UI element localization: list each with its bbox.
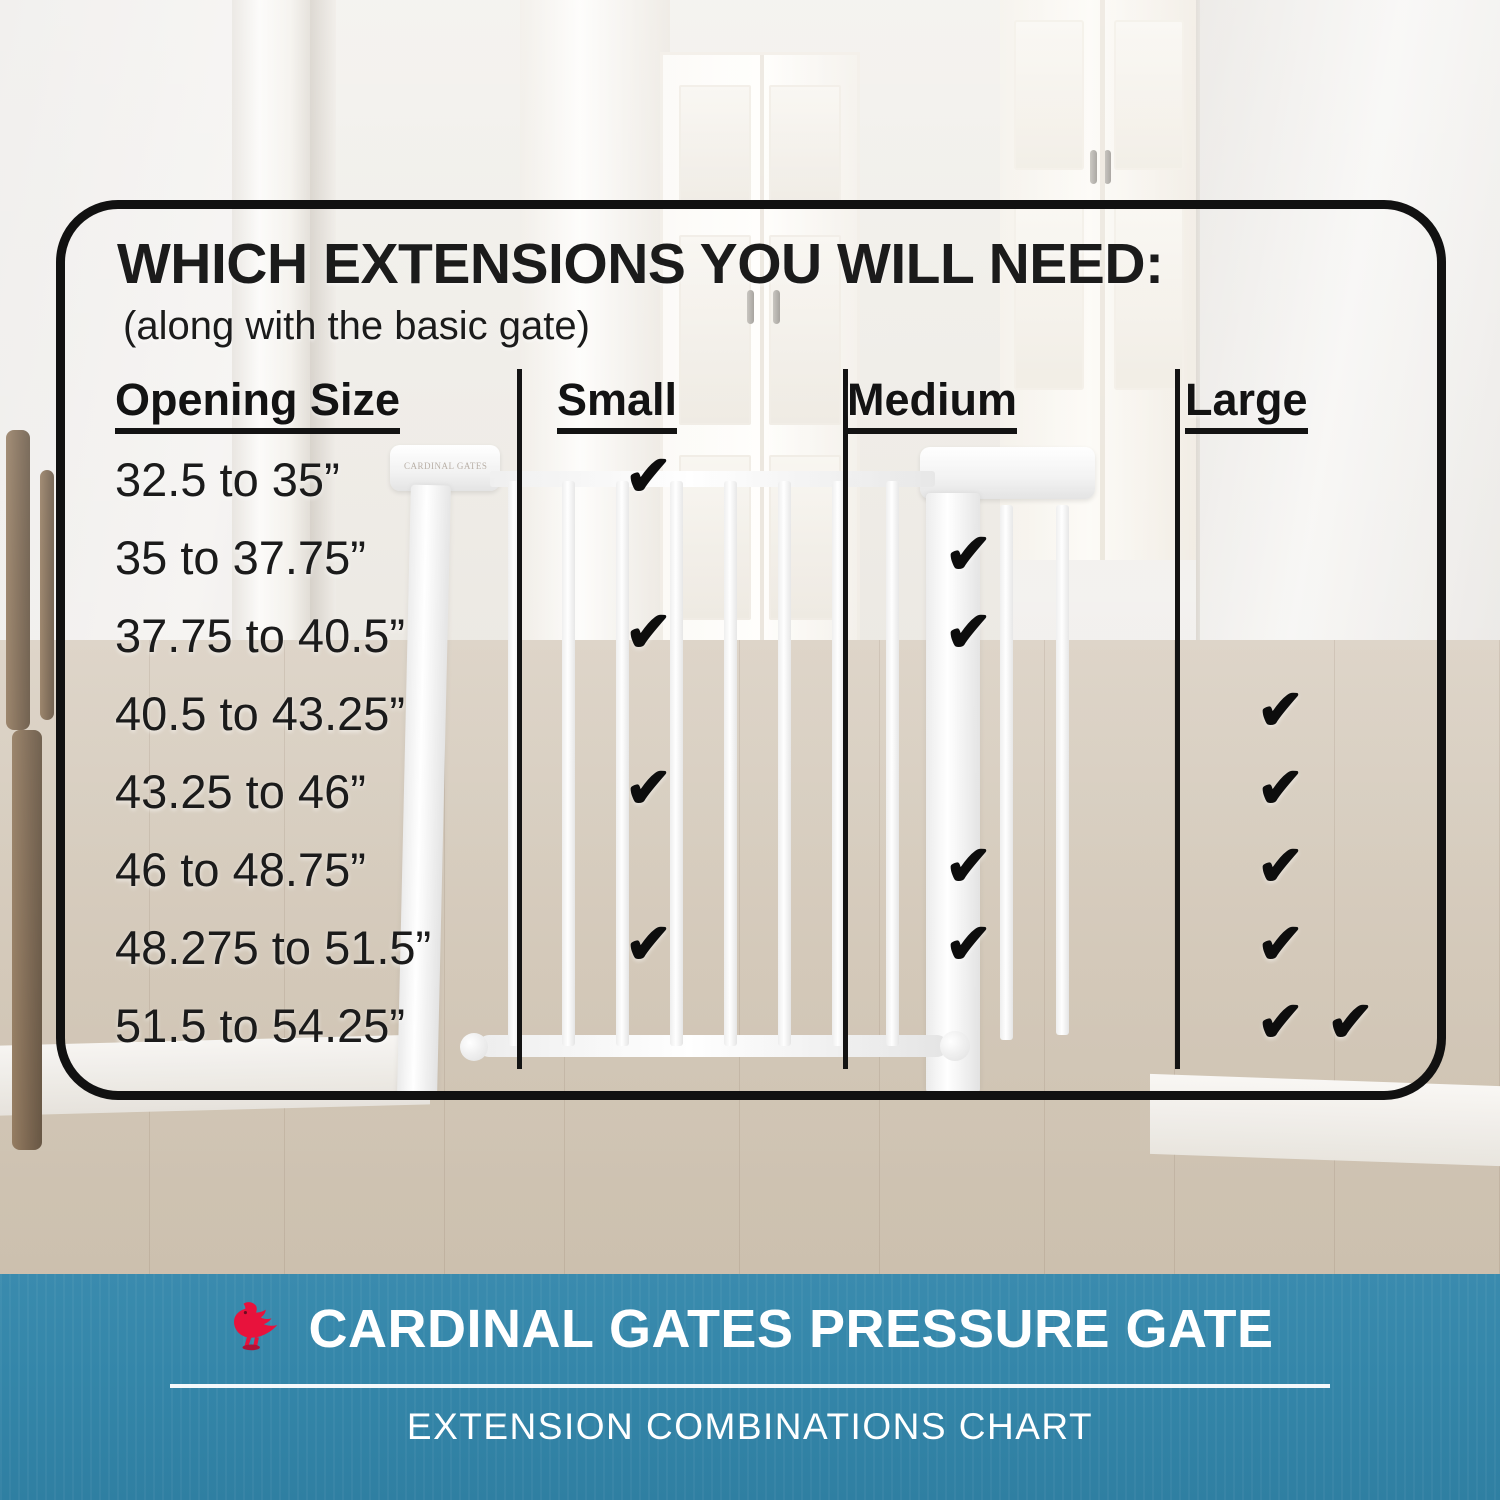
table-row: 48.275 to 51.5”✔✔✔ bbox=[65, 920, 1437, 998]
checkmark-medium-icon: ✔ bbox=[945, 916, 992, 972]
opening-size-value: 32.5 to 35” bbox=[115, 452, 340, 507]
opening-size-value: 37.75 to 40.5” bbox=[115, 608, 405, 663]
table-row: 35 to 37.75”✔ bbox=[65, 530, 1437, 608]
column-header-small: Small bbox=[557, 374, 677, 434]
checkmark-small-icon: ✔ bbox=[625, 916, 672, 972]
table-row: 40.5 to 43.25”✔ bbox=[65, 686, 1437, 764]
banner-title: CARDINAL GATES PRESSURE GATE bbox=[308, 1298, 1273, 1360]
brand-banner: CARDINAL GATES PRESSURE GATE EXTENSION C… bbox=[0, 1274, 1500, 1500]
table-row: 51.5 to 54.25”✔✔ bbox=[65, 998, 1437, 1076]
opening-size-value: 40.5 to 43.25” bbox=[115, 686, 405, 741]
checkmark-large-icon: ✔ bbox=[1257, 838, 1304, 894]
checkmark-large-icon: ✔ bbox=[1257, 916, 1304, 972]
table-row: 37.75 to 40.5”✔✔ bbox=[65, 608, 1437, 686]
extensions-chart-card: WHICH EXTENSIONS YOU WILL NEED: (along w… bbox=[56, 200, 1446, 1100]
opening-size-value: 48.275 to 51.5” bbox=[115, 920, 431, 975]
cardinal-bird-icon bbox=[226, 1300, 288, 1358]
table-row: 32.5 to 35”✔ bbox=[65, 452, 1437, 530]
banner-divider bbox=[170, 1384, 1330, 1388]
chart-title: WHICH EXTENSIONS YOU WILL NEED: bbox=[117, 231, 1163, 297]
column-header-large: Large bbox=[1185, 374, 1308, 434]
checkmark-small-icon: ✔ bbox=[625, 760, 672, 816]
checkmark-large-icon: ✔ bbox=[1257, 682, 1304, 738]
opening-size-value: 43.25 to 46” bbox=[115, 764, 366, 819]
checkmark-large-second-icon: ✔ bbox=[1327, 994, 1374, 1050]
chart-subtitle: (along with the basic gate) bbox=[123, 304, 590, 349]
opening-size-value: 51.5 to 54.25” bbox=[115, 998, 405, 1053]
column-header-opening-size: Opening Size bbox=[115, 374, 400, 434]
checkmark-medium-icon: ✔ bbox=[945, 604, 992, 660]
banner-subtitle: EXTENSION COMBINATIONS CHART bbox=[0, 1406, 1500, 1448]
opening-size-value: 35 to 37.75” bbox=[115, 530, 366, 585]
table-row: 46 to 48.75”✔✔ bbox=[65, 842, 1437, 920]
table-row: 43.25 to 46”✔✔ bbox=[65, 764, 1437, 842]
checkmark-medium-icon: ✔ bbox=[945, 838, 992, 894]
column-header-medium: Medium bbox=[847, 374, 1017, 434]
checkmark-medium-icon: ✔ bbox=[945, 526, 992, 582]
checkmark-small-icon: ✔ bbox=[625, 448, 672, 504]
checkmark-large-icon: ✔ bbox=[1257, 760, 1304, 816]
opening-size-value: 46 to 48.75” bbox=[115, 842, 366, 897]
checkmark-large-icon: ✔ bbox=[1257, 994, 1304, 1050]
checkmark-small-icon: ✔ bbox=[625, 604, 672, 660]
